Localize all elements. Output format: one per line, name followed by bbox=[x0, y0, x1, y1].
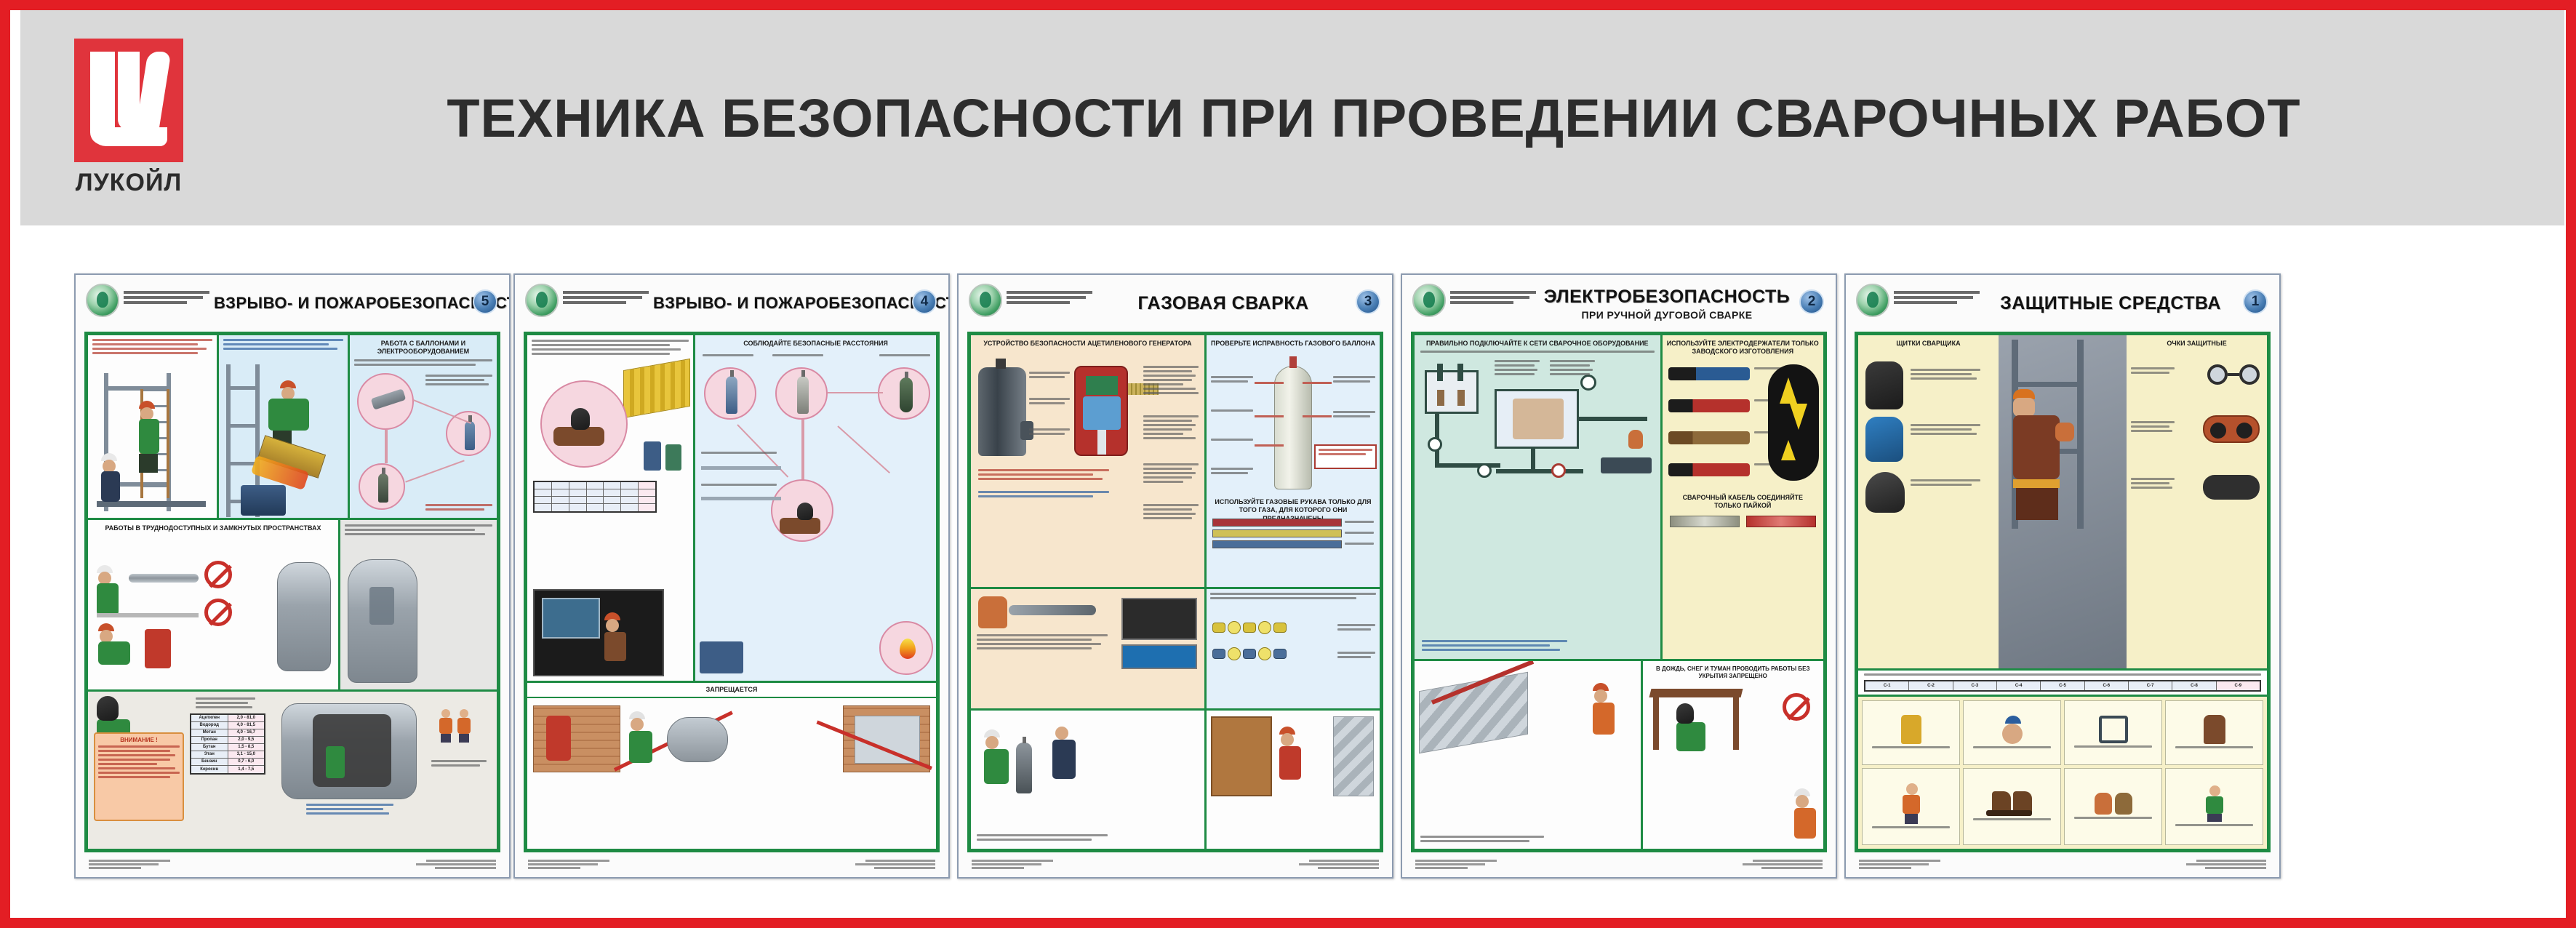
cell-name: Этан bbox=[191, 751, 228, 758]
page-header: ЛУКОЙЛ ТЕХНИКА БЕЗОПАСНОСТИ ПРИ ПРОВЕДЕН… bbox=[20, 10, 2564, 225]
warning-symbol-icon bbox=[1551, 463, 1566, 478]
no-rain-work-icon bbox=[1783, 693, 1810, 721]
prohibition-sign-icon-2 bbox=[204, 599, 232, 626]
inspector-figure bbox=[1052, 727, 1076, 779]
node-open-flame bbox=[879, 621, 933, 675]
safety-boot-icon-2 bbox=[2013, 791, 2032, 816]
poster-row-top: ЩИТКИ СВАРЩИКА bbox=[1858, 335, 2267, 668]
safety-emblem-icon bbox=[525, 284, 559, 317]
panel-protective-goggles: ОЧКИ ЗАЩИТНЫЕ bbox=[2127, 335, 2267, 668]
panel-worker-photo bbox=[1999, 335, 2127, 668]
electrode-holder-red-2 bbox=[1668, 463, 1750, 476]
scaffold-illustration bbox=[94, 373, 210, 511]
emblem-caption-lines bbox=[563, 291, 649, 306]
parameters-table bbox=[533, 481, 657, 513]
footer-right-text bbox=[855, 860, 935, 871]
poster-row-prohibited bbox=[527, 697, 936, 849]
poster-body: СОБЛЮДАЙТЕ БЕЗОПАСНЫЕ РАССТОЯНИЯ bbox=[524, 332, 940, 852]
poster-protective-equipment-1[interactable]: ЗАЩИТНЫЕ СРЕДСТВА 1 ЩИТКИ СВАРЩИКА bbox=[1844, 273, 2281, 879]
panel-hot-work-height bbox=[219, 335, 350, 518]
ppe-cell-suit bbox=[1862, 700, 1960, 766]
poster-title: ЭЛЕКТРОБЕЗОПАСНОСТЬ bbox=[1540, 287, 1793, 308]
lukoil-wordmark: ЛУКОЙЛ bbox=[76, 169, 183, 197]
cell-name: Керосин bbox=[191, 766, 228, 773]
panel-scaffold-work bbox=[88, 335, 219, 518]
poster-row-middle: РАБОТЫ В ТРУДНОДОСТУПНЫХ И ЗАМКНУТЫХ ПРО… bbox=[88, 520, 497, 692]
poster-subtitle: ПРИ РУЧНОЙ ДУГОВОЙ СВАРКЕ bbox=[1540, 309, 1793, 321]
prohibited-heading: ЗАПРЕЩАЕТСЯ bbox=[528, 686, 935, 694]
gas-cylinder-illustration bbox=[1274, 366, 1312, 489]
poster-header: ВЗРЫВО- И ПОЖАРОБЕЗОПАСНОСТЬ 4 bbox=[515, 275, 948, 332]
welding-glove-icon bbox=[2095, 793, 2112, 815]
footer-left-text bbox=[1415, 860, 1497, 871]
fuse-box bbox=[1425, 370, 1479, 414]
emblem-caption-lines bbox=[1894, 291, 1980, 306]
cable-heading: СВАРОЧНЫЙ КАБЕЛЬ СОЕДИНЯЙТЕ ТОЛЬКО ПАЙКО… bbox=[1670, 494, 1816, 511]
poster-body: ЩИТКИ СВАРЩИКА bbox=[1855, 332, 2271, 852]
poster-explosion-fire-safety-4[interactable]: ВЗРЫВО- И ПОЖАРОБЕЗОПАСНОСТЬ 4 bbox=[513, 273, 950, 879]
worker-in-confined-space bbox=[97, 565, 119, 615]
cylinder-node-c bbox=[359, 463, 405, 510]
node-oxygen-cylinder bbox=[704, 367, 756, 420]
cylinder-node-a bbox=[357, 373, 414, 430]
container-green bbox=[665, 444, 681, 471]
panel-drum-cutaway bbox=[277, 692, 497, 849]
safety-emblem-icon bbox=[1412, 284, 1446, 317]
shade-cell: С-8 bbox=[2172, 681, 2216, 690]
page-frame: ЛУКОЙЛ ТЕХНИКА БЕЗОПАСНОСТИ ПРИ ПРОВЕДЕН… bbox=[0, 0, 2576, 928]
welding-goggles-icon bbox=[2203, 415, 2260, 443]
drum-cutaway-illustration bbox=[281, 703, 417, 799]
poster-footer bbox=[76, 852, 509, 877]
cylinder-transport bbox=[1016, 743, 1032, 793]
panel-chain-fittings bbox=[1207, 589, 1380, 708]
poster-footer bbox=[1402, 852, 1836, 877]
footer-right-text bbox=[416, 860, 496, 871]
footer-right-text bbox=[1299, 860, 1379, 871]
shade-cell: С-3 bbox=[1953, 681, 1997, 690]
poster-title: ЗАЩИТНЫЕ СРЕДСТВА bbox=[1984, 293, 2237, 314]
cell-value: 2,0 - 9,5 bbox=[228, 737, 265, 743]
cell-value: 2,0 - 81,0 bbox=[228, 715, 265, 721]
panel-torch-handling bbox=[971, 589, 1207, 708]
safety-emblem-icon bbox=[86, 284, 119, 317]
ppe-cell-seated-worker bbox=[2165, 768, 2263, 845]
panel-storage-room bbox=[1207, 711, 1380, 849]
welding-torch bbox=[1009, 605, 1096, 615]
footer-left-text bbox=[1859, 860, 1940, 871]
hose-blue-photo bbox=[1121, 644, 1197, 669]
ppe-cell-apron bbox=[2165, 700, 2263, 766]
poster-title: ВЗРЫВО- И ПОЖАРОБЕЗОПАСНОСТЬ bbox=[214, 294, 511, 313]
poster-header: ЗАЩИТНЫЕ СРЕДСТВА 1 bbox=[1846, 275, 2279, 332]
panel-electrode-holders: ИСПОЛЬЗУЙТЕ ЭЛЕКТРОДЕРЖАТЕЛИ ТОЛЬКО ЗАВО… bbox=[1663, 335, 1823, 659]
fire-extinguisher bbox=[546, 716, 571, 761]
panel-wiring-diagram: ПРАВИЛЬНО ПОДКЛЮЧАЙТЕ К СЕТИ СВАРОЧНОЕ О… bbox=[1415, 335, 1663, 659]
two-workers-figures bbox=[438, 709, 472, 743]
panel-heading: ЩИТКИ СВАРЩИКА bbox=[1863, 340, 1994, 348]
poster-number-badge: 5 bbox=[473, 289, 497, 314]
footer-right-text bbox=[2186, 860, 2266, 871]
warning-box: ВНИМАНИЕ ! bbox=[94, 732, 184, 821]
panel-heading: ПРАВИЛЬНО ПОДКЛЮЧАЙТЕ К СЕТИ СВАРОЧНОЕ О… bbox=[1419, 340, 1656, 348]
poster-row-top: ПРАВИЛЬНО ПОДКЛЮЧАЙТЕ К СЕТИ СВАРОЧНОЕ О… bbox=[1415, 335, 1823, 659]
poster-row-top: РАБОТА С БАЛЛОНАМИ И ЭЛЕКТРООБОРУДОВАНИЕ… bbox=[88, 335, 497, 520]
cable-joint-1 bbox=[1670, 516, 1740, 527]
vessel-tank bbox=[277, 562, 331, 671]
worker-carrying-cable bbox=[1593, 683, 1615, 735]
limits-caption-lines bbox=[190, 695, 261, 713]
electrode-holder-blue bbox=[1668, 367, 1750, 380]
worker-prohibited-action bbox=[629, 711, 652, 763]
cell-value: 4,0 - 16,7 bbox=[228, 729, 265, 736]
welding-glove-icon-2 bbox=[2115, 793, 2132, 815]
note-box bbox=[1314, 444, 1377, 469]
cell-name: Пропан bbox=[191, 737, 228, 743]
safety-harness-icon bbox=[2099, 716, 2128, 743]
poster-strip: ВЗРЫВО- И ПОЖАРОБЕЗОПАСНОСТЬ 5 bbox=[20, 225, 2564, 918]
emblem-caption-lines bbox=[124, 291, 209, 306]
container-blue bbox=[644, 441, 661, 471]
panel-tank-entry bbox=[340, 520, 497, 689]
storage-door bbox=[1211, 716, 1272, 796]
panel-heading: УСТРОЙСТВО БЕЗОПАСНОСТИ АЦЕТИЛЕНОВОГО ГЕ… bbox=[975, 340, 1200, 348]
cell-value: 0,7 - 6,0 bbox=[228, 759, 265, 765]
worker-with-cylinder bbox=[984, 729, 1009, 784]
cell-name: Ацетилен bbox=[191, 715, 228, 721]
node-propane-cylinder bbox=[878, 367, 930, 420]
ppe-cell-respirator bbox=[1963, 700, 2061, 766]
welder-under-shelter bbox=[1676, 703, 1705, 751]
footer-right-text bbox=[1743, 860, 1823, 871]
shade-filters-strip: С-1 С-2 С-3 С-4 С-5 С-6 С-7 С-8 С-9 bbox=[1858, 668, 2267, 697]
poster-number-badge: 2 bbox=[1799, 289, 1824, 314]
footer-left-text bbox=[528, 860, 609, 871]
panel-weather-shelter: В ДОЖДЬ, СНЕГ И ТУМАН ПРОВОДИТЬ РАБОТЫ Б… bbox=[1643, 661, 1823, 849]
footer-left-text bbox=[972, 860, 1053, 871]
panel-warning-and-table: ВНИМАНИЕ ! Ацетилен2,0 - 81,0 Водород4,0… bbox=[88, 692, 277, 849]
hose-clamp-row-1 bbox=[1212, 621, 1287, 634]
panel-heading: РАБОТА С БАЛЛОНАМИ И ЭЛЕКТРООБОРУДОВАНИЕ… bbox=[354, 340, 492, 356]
panel-welding-near-flammables bbox=[527, 335, 695, 681]
worker-kneeling bbox=[98, 623, 130, 665]
poster-gas-welding-3[interactable]: ГАЗОВАЯ СВАРКА 3 УСТРОЙСТВО БЕЗОПАСНОСТИ… bbox=[957, 273, 1393, 879]
meter-symbol-icon bbox=[1428, 437, 1442, 452]
safety-emblem-icon bbox=[1856, 284, 1889, 317]
cell-value: 1,5 - 8,5 bbox=[228, 744, 265, 751]
poster-body: РАБОТА С БАЛЛОНАМИ И ЭЛЕКТРООБОРУДОВАНИЕ… bbox=[84, 332, 500, 852]
barrel-illustration bbox=[700, 641, 743, 673]
panel-acetylene-generator: УСТРОЙСТВО БЕЗОПАСНОСТИ АЦЕТИЛЕНОВОГО ГЕ… bbox=[971, 335, 1207, 587]
shade-cell: С-4 bbox=[1997, 681, 2041, 690]
supervisor-figure bbox=[101, 453, 120, 502]
shade-cell: С-2 bbox=[1909, 681, 1953, 690]
panel-cable-routing bbox=[1415, 661, 1643, 849]
respirator-icon bbox=[2002, 716, 2023, 744]
poster-row-bottom bbox=[971, 711, 1380, 849]
prohibition-sign-icon bbox=[204, 561, 232, 588]
insulation-panel bbox=[623, 359, 690, 418]
panel-confined-space: РАБОТЫ В ТРУДНОДОСТУПНЫХ И ЗАМКНУТЫХ ПРО… bbox=[88, 520, 340, 689]
panel-heading: ПРОВЕРЬТЕ ИСПРАВНОСТЬ ГАЗОВОГО БАЛЛОНА bbox=[1211, 340, 1375, 348]
welder-lying-figure bbox=[553, 408, 604, 446]
face-shield-icon bbox=[2203, 475, 2260, 500]
panel-cylinder-distances: РАБОТА С БАЛЛОНАМИ И ЭЛЕКТРООБОРУДОВАНИЕ… bbox=[350, 335, 497, 518]
poster-explosion-fire-safety-5[interactable]: ВЗРЫВО- И ПОЖАРОБЕЗОПАСНОСТЬ 5 bbox=[74, 273, 511, 879]
welding-transformer bbox=[1495, 389, 1579, 449]
poster-body: ПРАВИЛЬНО ПОДКЛЮЧАЙТЕ К СЕТИ СВАРОЧНОЕ О… bbox=[1411, 332, 1827, 852]
poster-title: ВЗРЫВО- И ПОЖАРОБЕЗОПАСНОСТЬ bbox=[653, 294, 950, 313]
poster-footer bbox=[959, 852, 1392, 877]
warning-title: ВНИМАНИЕ ! bbox=[98, 737, 180, 743]
cell-name: Бензин bbox=[191, 759, 228, 765]
dark-room-illustration bbox=[533, 589, 664, 676]
shelter-roof bbox=[1649, 689, 1743, 697]
gloved-hand-with-torch bbox=[978, 596, 1007, 628]
shade-cell: С-5 bbox=[2041, 681, 2084, 690]
hose-clamp-row-2 bbox=[1212, 647, 1287, 660]
generator-body bbox=[978, 367, 1026, 456]
shade-cell: С-6 bbox=[2085, 681, 2129, 690]
poster-footer bbox=[515, 852, 948, 877]
poster-header: ЭЛЕКТРОБЕЗОПАСНОСТЬ ПРИ РУЧНОЙ ДУГОВОЙ С… bbox=[1402, 275, 1836, 332]
ppe-cell-worker-front bbox=[1862, 768, 1960, 845]
panel-safe-distances: СОБЛЮДАЙТЕ БЕЗОПАСНЫЕ РАССТОЯНИЯ bbox=[695, 335, 936, 681]
shade-cell: С-9 bbox=[2217, 681, 2260, 690]
panel-prohibited-examples bbox=[527, 698, 936, 849]
ppe-grid bbox=[1858, 697, 2267, 849]
panel-training-scene bbox=[971, 711, 1207, 849]
gloved-hand bbox=[2055, 423, 2074, 441]
poster-row-top: СОБЛЮДАЙТЕ БЕЗОПАСНЫЕ РАССТОЯНИЯ bbox=[527, 335, 936, 681]
electric-shock-icon bbox=[1768, 364, 1819, 481]
panel-heading: В ДОЖДЬ, СНЕГ И ТУМАН ПРОВОДИТЬ РАБОТЫ Б… bbox=[1647, 665, 1819, 680]
worker-in-rain bbox=[1794, 788, 1816, 839]
shade-cell: С-1 bbox=[1865, 681, 1909, 690]
fire-extinguisher-icon bbox=[145, 629, 171, 668]
safety-emblem-icon bbox=[969, 284, 1002, 317]
poster-body: УСТРОЙСТВО БЕЗОПАСНОСТИ АЦЕТИЛЕНОВОГО ГЕ… bbox=[967, 332, 1383, 852]
poster-header: ВЗРЫВО- И ПОЖАРОБЕЗОПАСНОСТЬ 5 bbox=[76, 275, 509, 332]
welder-zoom-circle bbox=[540, 380, 628, 468]
poster-electrical-safety-2[interactable]: ЭЛЕКТРОБЕЗОПАСНОСТЬ ПРИ РУЧНОЙ ДУГОВОЙ С… bbox=[1401, 273, 1837, 879]
page-title: ТЕХНИКА БЕЗОПАСНОСТИ ПРИ ПРОВЕДЕНИИ СВАР… bbox=[212, 87, 2564, 149]
shade-cell: С-7 bbox=[2129, 681, 2172, 690]
pressure-vessel bbox=[667, 717, 728, 762]
worker-at-door bbox=[1279, 727, 1301, 780]
emblem-caption-lines bbox=[1007, 291, 1092, 306]
safety-glasses-icon bbox=[2207, 364, 2260, 385]
prohibited-heading-strip: ЗАПРЕЩАЕТСЯ bbox=[527, 681, 936, 697]
cell-value: 1,4 - 7,5 bbox=[228, 766, 265, 773]
lukoil-logo-icon bbox=[74, 39, 183, 162]
cylinder-node-b bbox=[446, 411, 491, 456]
poster-row-bottom: В ДОЖДЬ, СНЕГ И ТУМАН ПРОВОДИТЬ РАБОТЫ Б… bbox=[1415, 659, 1823, 849]
earth-symbol-icon bbox=[1477, 463, 1492, 478]
cell-name: Бутан bbox=[191, 744, 228, 751]
poster-header: ГАЗОВАЯ СВАРКА 3 bbox=[959, 275, 1392, 332]
electrode-holder-hand bbox=[1628, 430, 1643, 449]
cell-name: Метан bbox=[191, 729, 228, 736]
fuel-barrel bbox=[241, 485, 286, 516]
workpiece bbox=[1601, 457, 1652, 473]
poster-number-badge: 3 bbox=[1356, 289, 1380, 314]
poster-row-middle bbox=[971, 587, 1380, 711]
panel-heading: СОБЛЮДАЙТЕ БЕЗОПАСНЫЕ РАССТОЯНИЯ bbox=[700, 340, 932, 348]
ppe-cell-gloves bbox=[2064, 768, 2162, 845]
protective-suit-icon bbox=[1901, 715, 1921, 744]
welding-shield-dark-icon bbox=[1865, 361, 1903, 409]
panel-cylinder-inspection: ПРОВЕРЬТЕ ИСПРАВНОСТЬ ГАЗОВОГО БАЛЛОНА bbox=[1207, 335, 1380, 587]
safety-valve-cutaway bbox=[1074, 366, 1128, 456]
stairs-illustration bbox=[1333, 716, 1374, 796]
cell-value: 3,1 - 15,0 bbox=[228, 751, 265, 758]
footer-left-text bbox=[89, 860, 170, 871]
panel-welding-shields: ЩИТКИ СВАРЩИКА bbox=[1858, 335, 1999, 668]
hose-color-legend bbox=[1212, 519, 1374, 548]
leather-apron-icon bbox=[2204, 715, 2225, 744]
poster-number-badge: 1 bbox=[2243, 289, 2268, 314]
welding-shield-blue-icon bbox=[1865, 417, 1903, 462]
gas-limits-table: Ацетилен2,0 - 81,0 Водород4,0 - 81,5 Мет… bbox=[190, 713, 265, 775]
lukoil-brand: ЛУКОЙЛ bbox=[45, 39, 212, 197]
welder-at-height bbox=[2013, 389, 2060, 520]
cell-name: Водород bbox=[191, 722, 228, 729]
electrode-holder-red bbox=[1668, 399, 1750, 412]
poster-row-top: УСТРОЙСТВО БЕЗОПАСНОСТИ АЦЕТИЛЕНОВОГО ГЕ… bbox=[971, 335, 1380, 587]
hose-connection-photo bbox=[1121, 598, 1197, 640]
ppe-cell-harness bbox=[2064, 700, 2162, 766]
ppe-cell-boots bbox=[1963, 768, 2061, 845]
emblem-caption-lines bbox=[1450, 291, 1536, 306]
panel-heading: ИСПОЛЬЗУЙТЕ ЭЛЕКТРОДЕРЖАТЕЛИ ТОЛЬКО ЗАВО… bbox=[1667, 340, 1819, 356]
cable-joint-2 bbox=[1746, 516, 1816, 527]
cell-value: 4,0 - 81,5 bbox=[228, 722, 265, 729]
poster-title: ГАЗОВАЯ СВАРКА bbox=[1097, 293, 1350, 314]
panel-heading: РАБОТЫ В ТРУДНОДОСТУПНЫХ И ЗАМКНУТЫХ ПРО… bbox=[92, 524, 334, 532]
welder-on-ladder bbox=[139, 401, 159, 473]
poster-footer bbox=[1846, 852, 2279, 877]
poster-number-badge: 4 bbox=[912, 289, 937, 314]
electrode-holder-brown bbox=[1668, 431, 1750, 444]
node-acetylene-cylinder bbox=[775, 367, 828, 420]
panel-heading: ОЧКИ ЗАЩИТНЫЕ bbox=[2131, 340, 2263, 348]
welding-shield-handheld-icon bbox=[1865, 472, 1905, 513]
node-welding-spot bbox=[771, 479, 833, 542]
poster-row-bottom: ВНИМАНИЕ ! Ацетилен2,0 - 81,0 Водород4,0… bbox=[88, 692, 497, 849]
shade-filters-table: С-1 С-2 С-3 С-4 С-5 С-6 С-7 С-8 С-9 bbox=[1864, 680, 2261, 692]
